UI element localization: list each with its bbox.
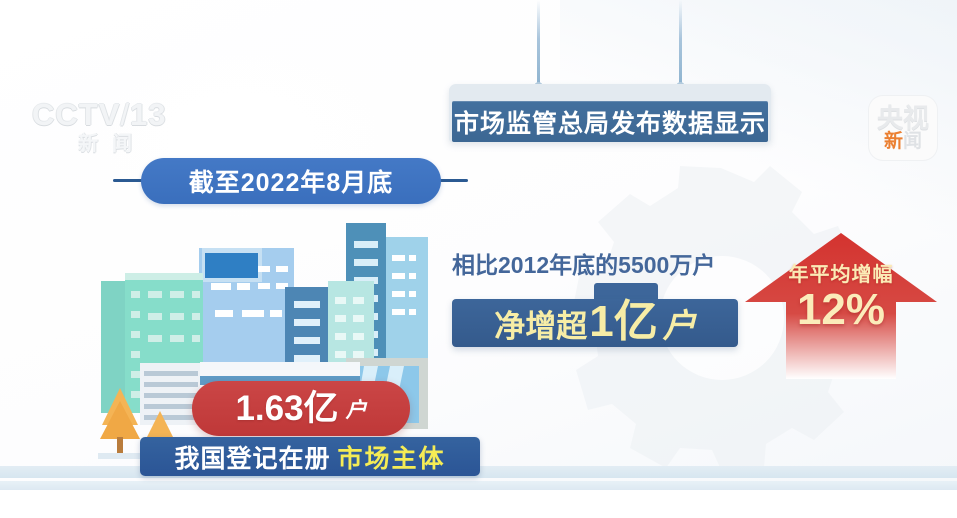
date-pill: 截至2022年8月底	[141, 158, 441, 204]
floor-band-lower	[0, 481, 957, 490]
app-logo-bottom-text: 新闻	[869, 126, 937, 153]
primary-stat-badge: 1.63亿 户	[192, 381, 410, 436]
primary-stat-unit: 户	[346, 394, 367, 424]
cctv13-logo-wordmark: CCTV/13	[32, 98, 184, 132]
cctv-news-app-logo: 央视 新闻	[869, 96, 937, 160]
growth-arrow-label: 年平均增幅	[744, 258, 938, 287]
caption-plain-text: 我国登记在册	[174, 439, 330, 475]
cctv-text: CCTV	[32, 97, 120, 132]
cctv-channel-number: 13	[130, 97, 166, 132]
net-growth-unit: 户	[663, 309, 696, 342]
app-logo-plain-char: 闻	[903, 131, 922, 152]
cctv13-logo-subtitle: 新闻	[32, 132, 184, 156]
hanging-string-left	[537, 0, 540, 86]
net-growth-text-group: 净增超 1亿 户	[452, 283, 738, 347]
hanging-string-right	[679, 0, 682, 86]
date-pill-text: 截至2022年8月底	[189, 163, 394, 199]
primary-stat-caption-bar: 我国登记在册 市场主体	[140, 437, 480, 476]
source-banner-text: 市场监管总局发布数据显示	[454, 104, 766, 140]
app-logo-accent-char: 新	[884, 131, 903, 152]
caption-highlight-text: 市场主体	[338, 439, 446, 475]
net-growth-number: 1亿	[589, 302, 657, 342]
cctv13-logo: CCTV/13 新闻	[32, 98, 184, 160]
date-pill-group: 截至2022年8月底	[113, 158, 468, 204]
comparison-baseline-text: 相比2012年底的5500万户	[452, 246, 715, 280]
floor-base	[0, 490, 957, 518]
growth-arrow-value: 12%	[744, 288, 938, 332]
source-banner: 市场监管总局发布数据显示	[452, 101, 768, 142]
infographic-canvas: CCTV/13 新闻 央视 新闻 市场监管总局发布数据显示 截至2022年8月底	[0, 0, 957, 518]
cctv-slash: /	[120, 97, 130, 132]
net-growth-prefix: 净增超	[494, 311, 587, 342]
primary-stat-value: 1.63亿	[235, 391, 338, 426]
banner-hanging-strings	[446, 0, 776, 92]
